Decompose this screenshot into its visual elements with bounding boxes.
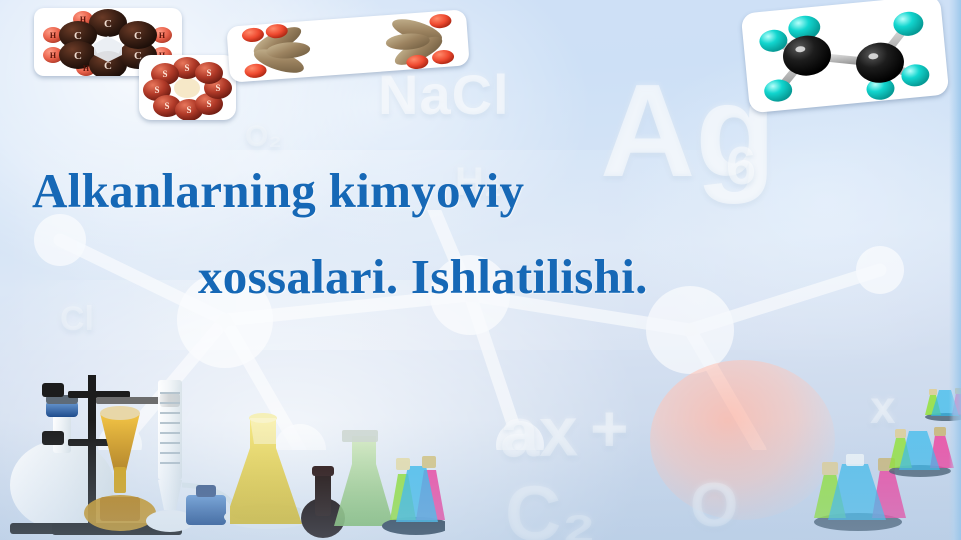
small-flask-cluster-medium bbox=[878, 418, 961, 478]
ethane-molecule-card bbox=[741, 0, 950, 113]
sulfur-ring-icon: SS SS SS SS bbox=[139, 55, 236, 120]
watermark-nacl: NaCl bbox=[378, 62, 510, 127]
sulfur-ring-card: SS SS SS SS bbox=[139, 55, 236, 120]
svg-text:S: S bbox=[162, 69, 167, 79]
slide-title: Alkanlarning kimyoviy xossalari. Ishlati… bbox=[0, 148, 961, 320]
small-flask-cluster-small bbox=[918, 382, 961, 422]
watermark-c2: C₂ bbox=[505, 468, 596, 540]
ethane-molecule-icon bbox=[741, 0, 950, 113]
svg-text:S: S bbox=[154, 85, 159, 95]
orbital-hybridization-card bbox=[226, 9, 469, 82]
title-line-1: Alkanlarning kimyoviy bbox=[0, 148, 961, 234]
svg-text:H: H bbox=[80, 15, 87, 24]
svg-text:S: S bbox=[164, 101, 169, 111]
svg-text:C: C bbox=[134, 30, 142, 42]
colored-glassware bbox=[230, 400, 445, 540]
svg-text:H: H bbox=[50, 31, 57, 40]
presentation-slide: NaCl Ag 6 H₂ ax + C₂ x O Cl O₂ Alkanlarn… bbox=[0, 0, 961, 540]
title-line-2: xossalari. Ishlatilishi. bbox=[0, 234, 961, 320]
svg-text:C: C bbox=[74, 50, 82, 62]
svg-text:S: S bbox=[206, 99, 211, 109]
svg-text:S: S bbox=[184, 63, 189, 73]
svg-text:H: H bbox=[159, 31, 166, 40]
orbital-lobes-icon bbox=[226, 9, 469, 82]
svg-text:H: H bbox=[50, 51, 57, 60]
svg-text:S: S bbox=[186, 105, 191, 115]
svg-text:H: H bbox=[83, 64, 90, 73]
svg-text:S: S bbox=[215, 83, 220, 93]
svg-text:C: C bbox=[74, 30, 82, 42]
watermark-o: O bbox=[690, 470, 738, 540]
svg-text:C: C bbox=[104, 18, 112, 30]
svg-text:S: S bbox=[206, 68, 211, 78]
